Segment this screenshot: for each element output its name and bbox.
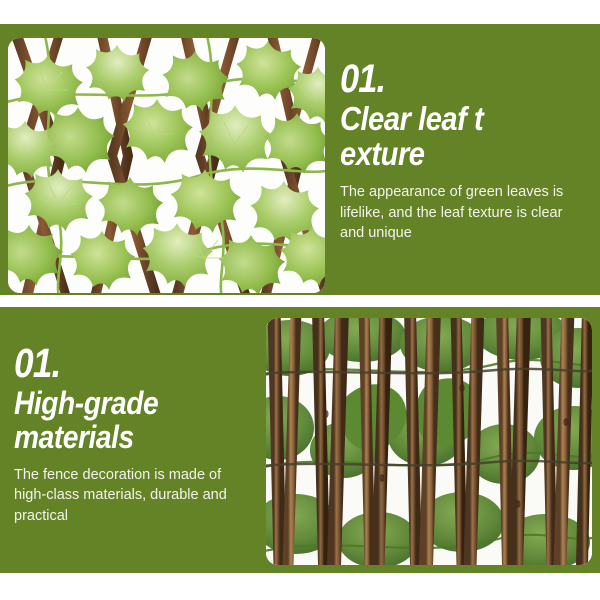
feature-image-wooden-fence	[266, 318, 592, 565]
infographic-canvas: 01. Clear leaf t exture The appearance o…	[0, 0, 600, 600]
feature-text-bottom: 01. High-grade materials The fence decor…	[14, 344, 260, 526]
feature-number-top: 01.	[340, 60, 555, 98]
feature-heading-bottom: High-grade materials	[14, 387, 230, 455]
feature-number-bottom: 01.	[14, 344, 226, 383]
feature-text-top: 01. Clear leaf t exture The appearance o…	[340, 60, 590, 244]
feature-image-ivy-leaf	[8, 38, 325, 293]
wooden-fence-photo-graphic	[266, 318, 592, 565]
feature-body-bottom: The fence decoration is made of high-cla…	[14, 465, 252, 527]
feature-heading-top: Clear leaf t exture	[340, 102, 560, 172]
feature-body-top: The appearance of green leaves is lifeli…	[340, 182, 583, 244]
ivy-leaf-photo-graphic	[8, 38, 325, 293]
